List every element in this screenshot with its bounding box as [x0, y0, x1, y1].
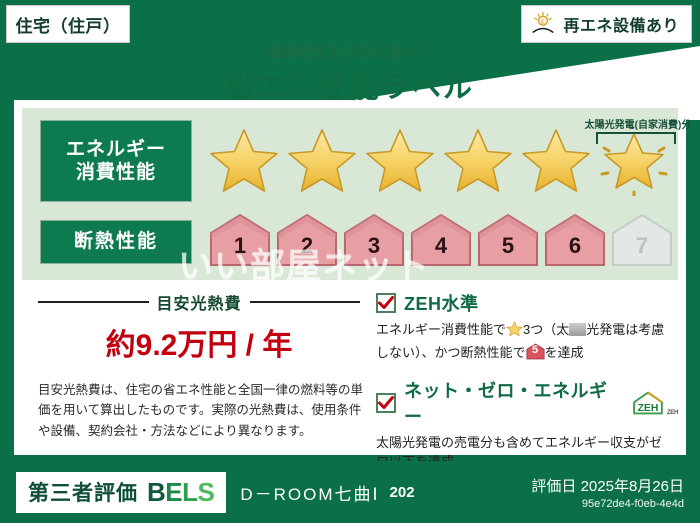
zeh-standard-checkbox[interactable]: [376, 293, 396, 313]
svg-text:E: E: [542, 20, 546, 26]
zeh-standard-block: ZEH水準 エネルギー消費性能で 3つ（太光発電は考慮しない）、かつ断熱性能で …: [376, 290, 678, 363]
cost-heading: 目安光熱費: [157, 290, 242, 314]
evaluation-info: 評価日 2025年8月26日 95e72de4-f0eb-4e4d: [531, 475, 684, 510]
star-icon: [286, 126, 358, 196]
cost-note: 目安光熱費は、住宅の省エネ性能と全国一律の燃料等の単価を用いて算出したものです。…: [38, 380, 368, 441]
inline-insulation-badge: 5: [526, 343, 545, 360]
zeh-logo-sub: ZEH: [667, 410, 678, 416]
net-zero-title: ネット・ゼロ・エネルギー: [404, 377, 622, 429]
insulation-label: 断熱性能: [74, 230, 158, 253]
sun-icon: E: [530, 11, 556, 37]
cost-section: 目安光熱費 約9.2万円 / 年 目安光熱費は、住宅の省エネ性能と全国一律の燃料…: [22, 286, 370, 447]
zeh-body-pre: エネルギー消費性能で: [376, 322, 506, 337]
insulation-level-number: 1: [234, 233, 246, 268]
energy-label-line1: エネルギー: [66, 138, 166, 161]
insulation-level-scale: 1 2 3: [208, 212, 674, 268]
cost-heading-row: 目安光熱費: [38, 290, 360, 314]
insulation-level-number: 5: [502, 233, 514, 268]
inline-star-icon: [506, 321, 523, 343]
evaluation-date-label: 評価日: [531, 478, 576, 495]
check-icon: [378, 396, 394, 410]
divider-left: [38, 301, 149, 303]
insulation-level-7: 7: [610, 212, 674, 268]
insulation-level-number: 3: [368, 233, 380, 268]
star-icon: [364, 126, 436, 196]
star-icon: [442, 126, 514, 196]
title-subtitle: 建築物省エネ法に基づく: [0, 42, 700, 62]
zeh-standard-title: ZEH水準: [404, 290, 479, 316]
watermark-occlusion: [569, 323, 586, 336]
insulation-level-number: 4: [435, 233, 447, 268]
insulation-level-5: 5: [476, 212, 540, 268]
evaluation-date: 評価日 2025年8月26日: [531, 475, 684, 496]
solar-note-label: 太陽光発電(自家消費)分: [568, 116, 700, 131]
cost-value: 約9.2万円 / 年: [38, 320, 360, 364]
lower-section: 目安光熱費 約9.2万円 / 年 目安光熱費は、住宅の省エネ性能と全国一律の燃料…: [22, 286, 678, 447]
insulation-level-1: 1: [208, 212, 272, 268]
insulation-level-3: 3: [342, 212, 406, 268]
title-block: 建築物省エネ法に基づく 省エネ性能ラベル: [0, 42, 700, 106]
insulation-performance-label-box: 断熱性能: [40, 220, 192, 264]
insulation-level-4: 4: [409, 212, 473, 268]
property-name: D－ROOM七曲Ⅰ: [240, 480, 379, 505]
solar-bracket: [596, 132, 676, 144]
energy-performance-label: 住宅（住戸） E 再エネ設備あり 建築物省エネ法に基づく 省エネ性能ラベル: [0, 0, 700, 523]
renewable-badge-label: 再エネ設備あり: [563, 12, 679, 36]
house-type-label: 住宅（住戸）: [16, 12, 121, 37]
check-icon: [378, 296, 394, 310]
main-frame: エネルギー 消費性能 断熱性能: [14, 100, 686, 455]
star-icon: [208, 126, 280, 196]
energy-label-line2: 消費性能: [76, 161, 156, 184]
renewable-equipment-badge: E 再エネ設備あり: [521, 5, 692, 43]
page-title: 省エネ性能ラベル: [0, 64, 700, 106]
house-type-badge: 住宅（住戸）: [6, 5, 130, 43]
certification-section: ZEH水準 エネルギー消費性能で 3つ（太光発電は考慮しない）、かつ断熱性能で …: [370, 286, 678, 447]
zeh-standard-header: ZEH水準: [376, 290, 678, 316]
svg-text:ZEH: ZEH: [637, 402, 658, 413]
net-zero-energy-block: ネット・ゼロ・エネルギー ZEH ZEH 太陽光発電の売電分も含めてエネルギー収…: [376, 377, 678, 473]
bels-logo: BELS: [147, 477, 214, 508]
third-party-label: 第三者評価: [28, 477, 138, 507]
evaluation-date-value: 2025年8月26日: [581, 478, 684, 495]
insulation-level-number: 6: [569, 233, 581, 268]
insulation-level-2: 2: [275, 212, 339, 268]
zeh-body-mid: 3つ（太: [523, 322, 569, 337]
evaluation-id: 95e72de4-f0eb-4e4d: [531, 498, 684, 510]
insulation-level-number: 2: [301, 233, 313, 268]
performance-panel: エネルギー 消費性能 断熱性能: [22, 108, 678, 280]
net-zero-checkbox[interactable]: [376, 393, 396, 413]
inline-insulation-number: 5: [526, 343, 545, 360]
net-zero-header: ネット・ゼロ・エネルギー ZEH ZEH: [376, 377, 678, 429]
divider-right: [250, 301, 361, 303]
insulation-level-6: 6: [543, 212, 607, 268]
star-icon: [520, 126, 592, 196]
insulation-level-number: 7: [636, 233, 648, 268]
zeh-body-post: を達成: [545, 345, 584, 360]
bels-badge: 第三者評価 BELS: [16, 472, 226, 513]
footer-bar: 第三者評価 BELS D－ROOM七曲Ⅰ 202 評価日 2025年8月26日 …: [0, 461, 700, 523]
zeh-logo: ZEH ZEH: [630, 390, 678, 416]
room-number: 202: [390, 484, 415, 501]
zeh-standard-body: エネルギー消費性能で 3つ（太光発電は考慮しない）、かつ断熱性能で 5 を達成: [376, 320, 668, 363]
energy-performance-label-box: エネルギー 消費性能: [40, 120, 192, 202]
